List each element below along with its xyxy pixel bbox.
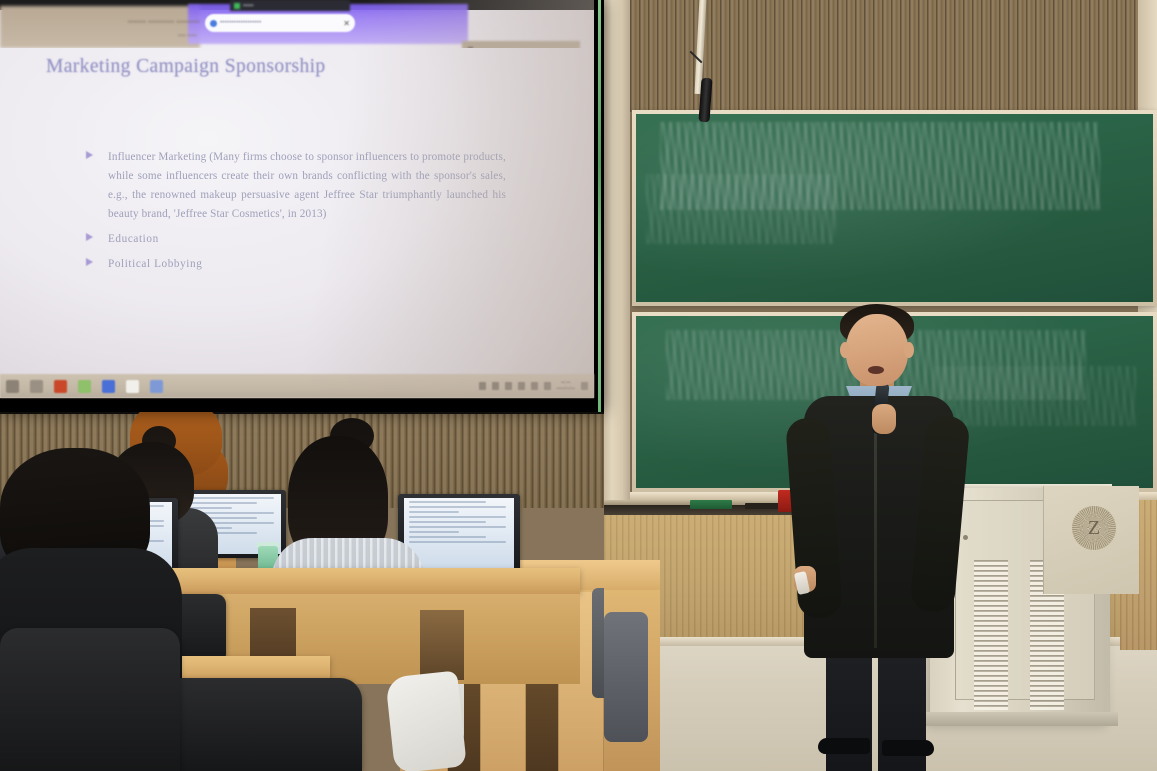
close-x-icon[interactable]: ✕ [343, 19, 350, 28]
lecturer-mouth [868, 366, 884, 374]
show-desktop-icon[interactable] [581, 382, 588, 390]
lecturer-hand-holding-microphone [872, 404, 896, 434]
white-coat-on-desk [385, 670, 467, 771]
taskbar-system-tray: ••:•• ••••/••/•• [479, 380, 588, 392]
grey-bag [592, 588, 604, 698]
projected-slide: •••••• ••••••• •••••••••• ••••••••• ••••… [0, 0, 594, 398]
app-icon [234, 3, 240, 9]
taskbar-clock[interactable]: ••:•• ••••/••/•• [557, 380, 575, 392]
lecturer-shoe-right [882, 740, 934, 756]
task-view-icon[interactable] [30, 380, 43, 393]
notification-toast[interactable]: •••••••••••••••••• ✕ [205, 14, 355, 32]
university-seal-emblem-icon: Z [1072, 506, 1116, 550]
triangle-bullet-icon [86, 258, 93, 266]
os-blurred-label-secondary: •••• ••••• [178, 33, 268, 42]
chair-front[interactable] [0, 628, 180, 771]
lecturer-ear-right [904, 342, 914, 358]
battery-icon[interactable] [505, 382, 512, 390]
edge-icon[interactable] [102, 380, 115, 393]
screen-edge-glow [598, 0, 601, 412]
info-dot-icon [210, 20, 217, 27]
powerpoint-icon[interactable] [54, 380, 67, 393]
os-notification-overlay: •••••• ••••••• •••••••••• ••••••••• ••••… [0, 0, 594, 48]
os-taskbar-window-chip[interactable]: ••••• •••••••• [462, 41, 580, 48]
slide-bullet-3: Political Lobbying [86, 255, 506, 274]
lecturer-shoe-left [818, 738, 870, 754]
lecturer [790, 296, 975, 771]
student-seating-area [0, 398, 604, 771]
os-window-title-text: •••••• [243, 3, 254, 9]
notification-icon[interactable] [479, 382, 486, 390]
slide-bullet-3-text: Political Lobbying [108, 255, 506, 274]
input-method-icon[interactable] [492, 382, 499, 390]
lecturer-head [846, 314, 908, 386]
upper-chalkboard [632, 110, 1157, 306]
laptop-3-screen [404, 498, 514, 568]
slide-bullet-1: Influencer Marketing (Many firms choose … [86, 148, 506, 224]
cabinet-vent-left [974, 560, 1008, 710]
os-taskbar-window-chip-text: ••••• •••••••• [477, 48, 504, 49]
search-icon[interactable] [6, 380, 19, 393]
notification-toast-text: •••••••••••••••••• [220, 20, 340, 26]
network-icon[interactable] [531, 382, 538, 390]
triangle-bullet-icon [86, 233, 93, 241]
windows-taskbar[interactable]: ••:•• ••••/••/•• [0, 374, 594, 398]
triangle-bullet-icon [86, 151, 93, 159]
lecturer-jacket-zipper [874, 408, 877, 648]
slide-bullet-1-text: Influencer Marketing (Many firms choose … [108, 148, 506, 224]
os-window-title-strip: •••••• [230, 0, 350, 11]
blackboard-eraser-icon [690, 500, 732, 509]
photos-icon[interactable] [78, 380, 91, 393]
chevron-up-icon[interactable] [544, 382, 551, 390]
slide-bullet-2: Education [86, 230, 506, 249]
slide-title: Marketing Campaign Sponsorship [46, 56, 326, 78]
doc-icon [468, 47, 473, 48]
hanging-bag [604, 612, 648, 742]
chrome-icon[interactable] [150, 380, 163, 393]
projection-screen: •••••• ••••••• •••••••••• ••••••••• ••••… [0, 0, 604, 412]
store-icon[interactable] [126, 380, 139, 393]
slide-body: Influencer Marketing (Many firms choose … [86, 148, 506, 276]
classroom-photo: Z [0, 0, 1157, 771]
taskbar-app-icons [6, 380, 163, 393]
sound-icon[interactable] [518, 382, 525, 390]
taskbar-clock-date: ••••/••/•• [557, 386, 575, 392]
desk-row-2-gap-right [420, 610, 464, 680]
lecturer-ear-left [840, 342, 850, 358]
slide-bullet-2-text: Education [108, 230, 506, 249]
chair-middle[interactable] [152, 678, 362, 771]
wall-pillar [604, 0, 630, 500]
